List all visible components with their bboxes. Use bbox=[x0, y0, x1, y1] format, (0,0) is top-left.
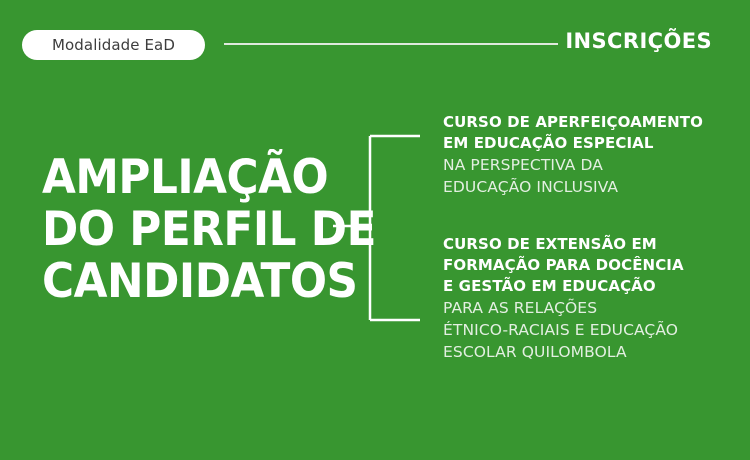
course-list: CURSO DE APERFEIÇOAMENTO EM EDUCAÇÃO ESP… bbox=[443, 112, 733, 363]
page-title-line-1: AMPLIAÇÃO bbox=[42, 152, 376, 204]
course-item: CURSO DE EXTENSÃO EM FORMAÇÃO PARA DOCÊN… bbox=[443, 234, 733, 363]
course-subtitle-line: EDUCAÇÃO INCLUSIVA bbox=[443, 176, 733, 198]
course-title-line: E GESTÃO EM EDUCAÇÃO bbox=[443, 276, 733, 297]
promo-banner: Modalidade EaD INSCRIÇÕES AMPLIAÇÃO DO P… bbox=[0, 0, 750, 460]
course-title-line: EM EDUCAÇÃO ESPECIAL bbox=[443, 133, 733, 154]
modality-badge: Modalidade EaD bbox=[22, 30, 205, 60]
header-divider-rule bbox=[224, 43, 558, 45]
course-title-line: CURSO DE EXTENSÃO EM bbox=[443, 234, 733, 255]
modality-badge-label: Modalidade EaD bbox=[52, 38, 175, 53]
page-title-line-2: DO PERFIL DE bbox=[42, 204, 376, 256]
page-title-line-3: CANDIDATOS bbox=[42, 256, 376, 308]
course-title-line: CURSO DE APERFEIÇOAMENTO bbox=[443, 112, 733, 133]
course-subtitle-line: NA PERSPECTIVA DA bbox=[443, 154, 733, 176]
course-subtitle-line: PARA AS RELAÇÕES bbox=[443, 297, 733, 319]
course-title-line: FORMAÇÃO PARA DOCÊNCIA bbox=[443, 255, 733, 276]
page-title: AMPLIAÇÃO DO PERFIL DE CANDIDATOS bbox=[42, 152, 376, 308]
course-subtitle-line: ESCOLAR QUILOMBOLA bbox=[443, 341, 733, 363]
enrollment-label: INSCRIÇÕES bbox=[565, 31, 712, 52]
course-subtitle-line: ÉTNICO-RACIAIS E EDUCAÇÃO bbox=[443, 319, 733, 341]
course-item: CURSO DE APERFEIÇOAMENTO EM EDUCAÇÃO ESP… bbox=[443, 112, 733, 198]
